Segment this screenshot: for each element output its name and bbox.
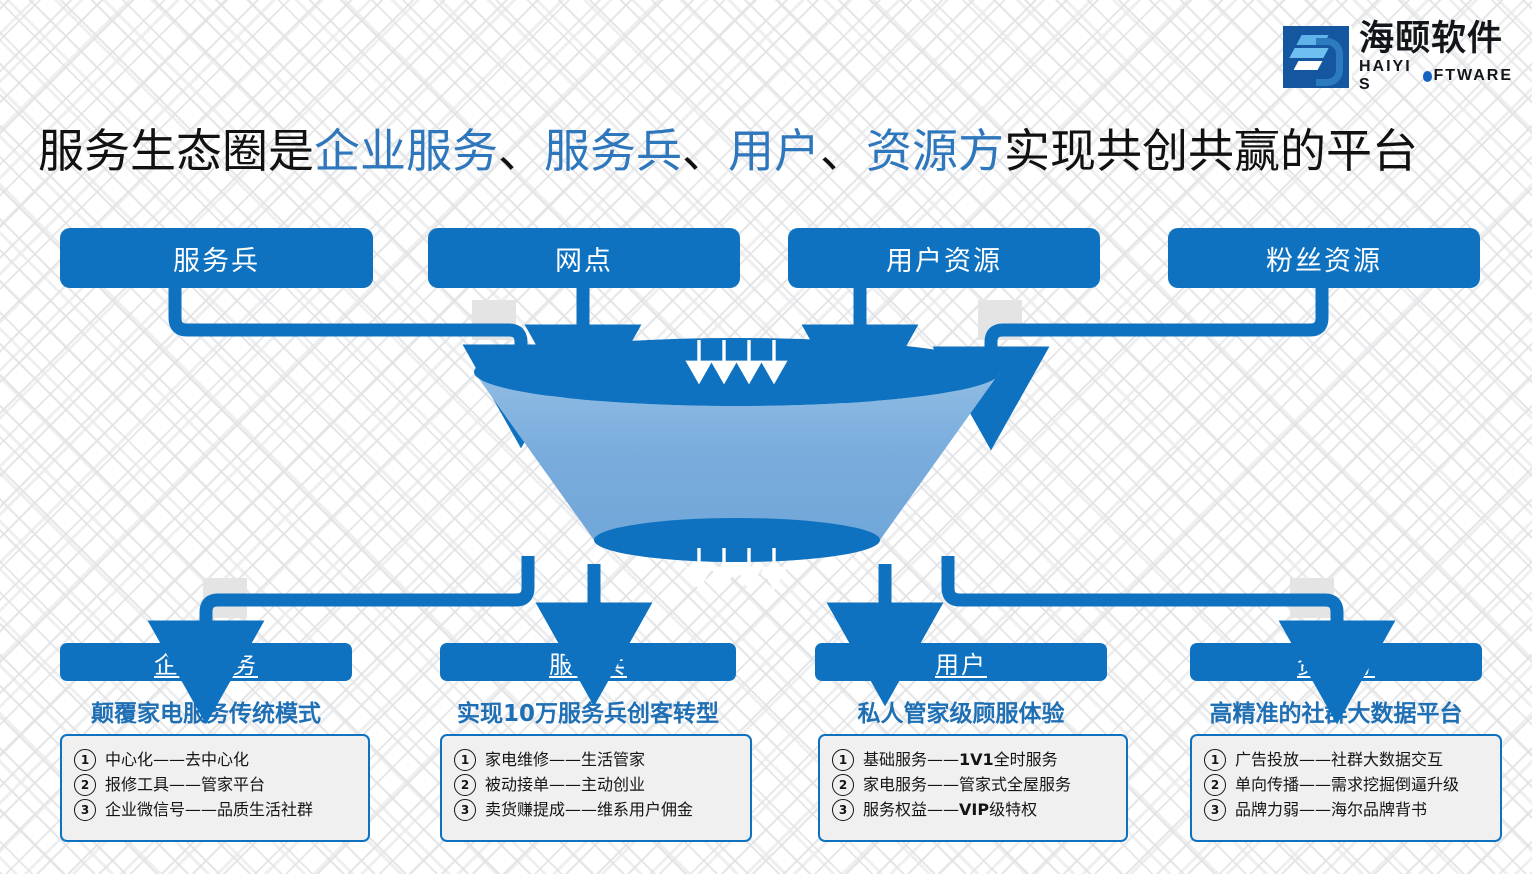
connector-funnel-to-pillar0 [206, 556, 528, 636]
connector-src3-to-funnel [991, 288, 1322, 362]
connector-src0-to-funnel [175, 288, 521, 360]
funnel-top-ellipse [474, 338, 1000, 406]
funnel-bottom-ellipse [594, 518, 880, 562]
connector-funnel-to-pillar3 [948, 556, 1337, 636]
diagram-canvas [0, 0, 1532, 874]
